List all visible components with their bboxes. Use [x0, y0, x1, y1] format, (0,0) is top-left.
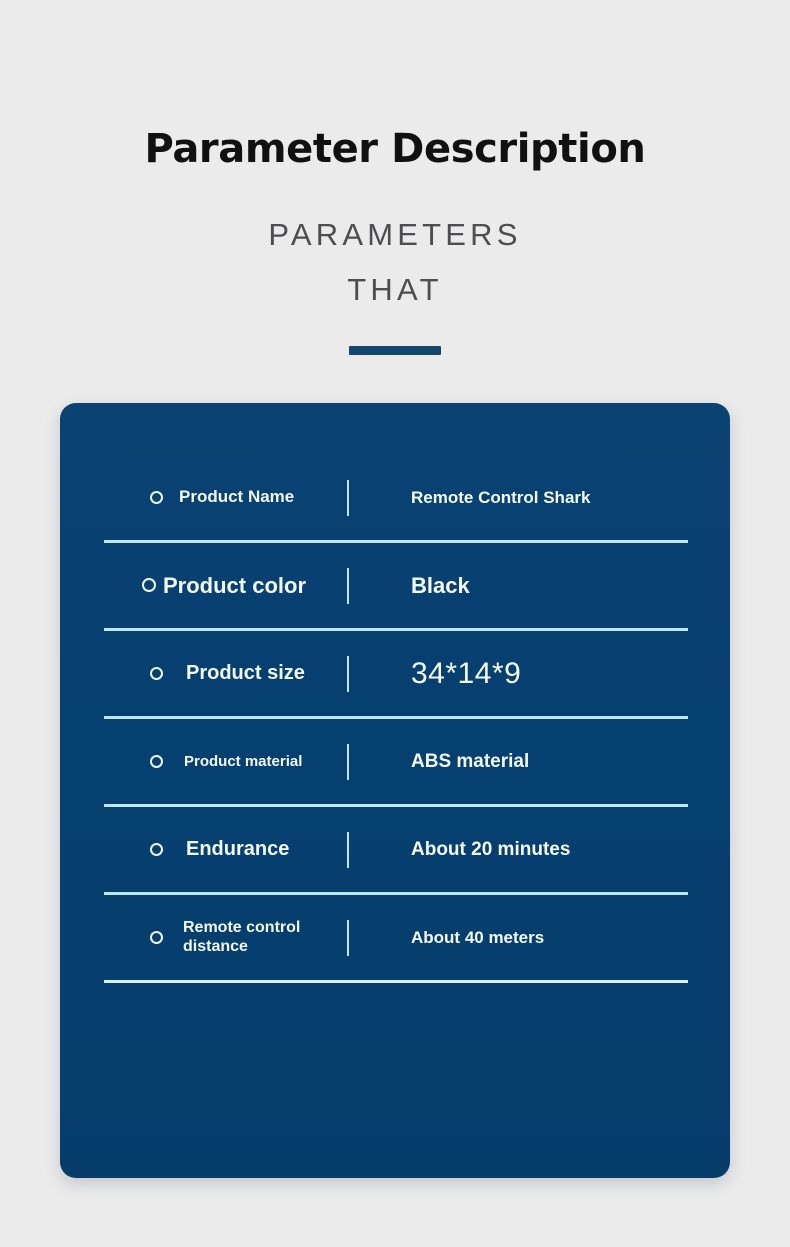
spec-label: Product material [184, 753, 302, 771]
page-header: Parameter Description PARAMETERS THAT [0, 0, 790, 355]
subtitle-line-1: PARAMETERS [0, 207, 790, 262]
table-row: Endurance About 20 minutes [104, 807, 688, 895]
spec-value: ABS material [349, 751, 529, 773]
page-title: Parameter Description [0, 128, 790, 171]
table-row: Product color Black [104, 543, 688, 631]
spec-label: Endurance [186, 838, 289, 862]
table-row: Product Name Remote Control Shark [104, 455, 688, 543]
spec-label: Product color [163, 573, 306, 599]
accent-divider-bar [349, 346, 441, 355]
spec-label: Remote control distance [183, 919, 303, 957]
table-row: Remote control distance About 40 meters [104, 895, 688, 983]
row-label-cell: Product color [104, 573, 347, 599]
table-row: Product size 34*14*9 [104, 631, 688, 719]
spec-label: Product size [186, 662, 305, 686]
spec-value: About 20 minutes [349, 839, 570, 861]
circle-outline-icon [150, 667, 163, 680]
circle-outline-icon [142, 578, 156, 592]
spec-label: Product Name [179, 487, 294, 507]
specification-card: Product Name Remote Control Shark Produc… [60, 403, 730, 1178]
spec-value: 34*14*9 [349, 657, 521, 691]
row-label-cell: Product Name [104, 487, 347, 507]
spec-value: Remote Control Shark [349, 488, 590, 508]
circle-outline-icon [150, 843, 163, 856]
table-row: Product material ABS material [104, 719, 688, 807]
circle-outline-icon [150, 931, 163, 944]
circle-outline-icon [150, 491, 163, 504]
row-label-cell: Remote control distance [104, 919, 347, 957]
specification-table: Product Name Remote Control Shark Produc… [104, 455, 688, 983]
row-label-cell: Product material [104, 753, 347, 771]
spec-value: Black [349, 573, 470, 599]
row-label-cell: Endurance [104, 838, 347, 862]
spec-value: About 40 meters [349, 928, 544, 948]
circle-outline-icon [150, 755, 163, 768]
subtitle-line-2: THAT [0, 262, 790, 317]
page-subtitle: PARAMETERS THAT [0, 207, 790, 317]
row-label-cell: Product size [104, 662, 347, 686]
